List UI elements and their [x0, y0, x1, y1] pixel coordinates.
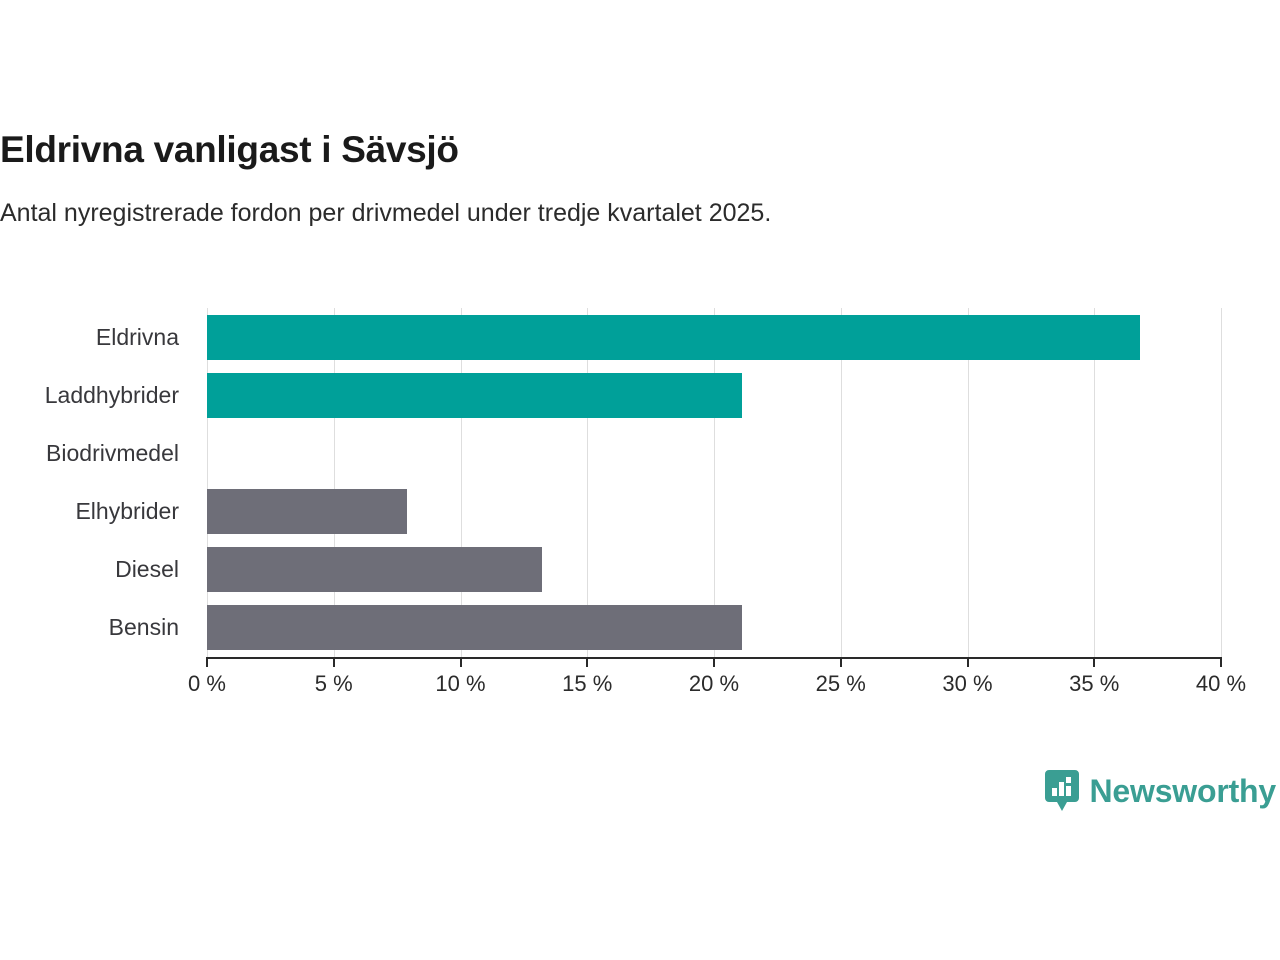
y-axis-label-elhybrider: Elhybrider: [0, 483, 193, 541]
x-axis-tick: [967, 657, 969, 667]
y-axis-label-biodrivmedel: Biodrivmedel: [0, 424, 193, 482]
x-axis-tick: [206, 657, 208, 667]
x-axis-tick-label: 20 %: [689, 671, 739, 697]
x-axis-tick: [1093, 657, 1095, 667]
chart-page: Eldrivna vanligast i Sävsjö Antal nyregi…: [0, 0, 1280, 960]
y-axis-label-eldrivna: Eldrivna: [0, 308, 193, 366]
bar-row: [207, 483, 1221, 541]
page-title: Eldrivna vanligast i Sävsjö: [0, 128, 1280, 172]
chart-subtitle: Antal nyregistrerade fordon per drivmede…: [0, 198, 1280, 228]
chart-header: Eldrivna vanligast i Sävsjö Antal nyregi…: [0, 128, 1280, 228]
x-axis-tick-label: 35 %: [1069, 671, 1119, 697]
x-axis-tick: [840, 657, 842, 667]
bar-row: [207, 599, 1221, 657]
gridline: [1221, 308, 1222, 657]
bar-row: [207, 366, 1221, 424]
bar-bensin[interactable]: [207, 605, 742, 650]
bar-row: [207, 541, 1221, 599]
bar-eldrivna[interactable]: [207, 315, 1140, 360]
x-axis-tick-label: 10 %: [435, 671, 485, 697]
x-axis-tick-label: 30 %: [942, 671, 992, 697]
x-axis-tick-label: 40 %: [1196, 671, 1246, 697]
bar-elhybrider[interactable]: [207, 489, 407, 534]
x-axis-tick-label: 0 %: [188, 671, 226, 697]
x-axis-tick-label: 5 %: [315, 671, 353, 697]
bar-series: [207, 308, 1221, 657]
x-axis-tick: [460, 657, 462, 667]
bar-row: [207, 308, 1221, 366]
plot-area: [207, 308, 1221, 657]
x-axis-tick: [586, 657, 588, 667]
bar-chart: Eldrivna Laddhybrider Biodrivmedel Elhyb…: [0, 300, 1280, 720]
bar-chart-speech-bubble-icon: [1045, 770, 1079, 812]
x-axis-tick: [713, 657, 715, 667]
bar-diesel[interactable]: [207, 547, 542, 592]
bar-row: [207, 424, 1221, 482]
y-axis-label-bensin: Bensin: [0, 599, 193, 657]
newsworthy-logo[interactable]: Newsworthy: [1045, 770, 1277, 812]
y-axis-label-diesel: Diesel: [0, 541, 193, 599]
bar-laddhybrider[interactable]: [207, 373, 742, 418]
y-axis-label-laddhybrider: Laddhybrider: [0, 366, 193, 424]
x-axis-tick: [1220, 657, 1222, 667]
x-axis-tick-label: 25 %: [816, 671, 866, 697]
x-axis-tick: [333, 657, 335, 667]
y-axis-category-labels: Eldrivna Laddhybrider Biodrivmedel Elhyb…: [0, 308, 193, 657]
logo-wordmark: Newsworthy: [1090, 775, 1277, 807]
x-axis-tick-label: 15 %: [562, 671, 612, 697]
